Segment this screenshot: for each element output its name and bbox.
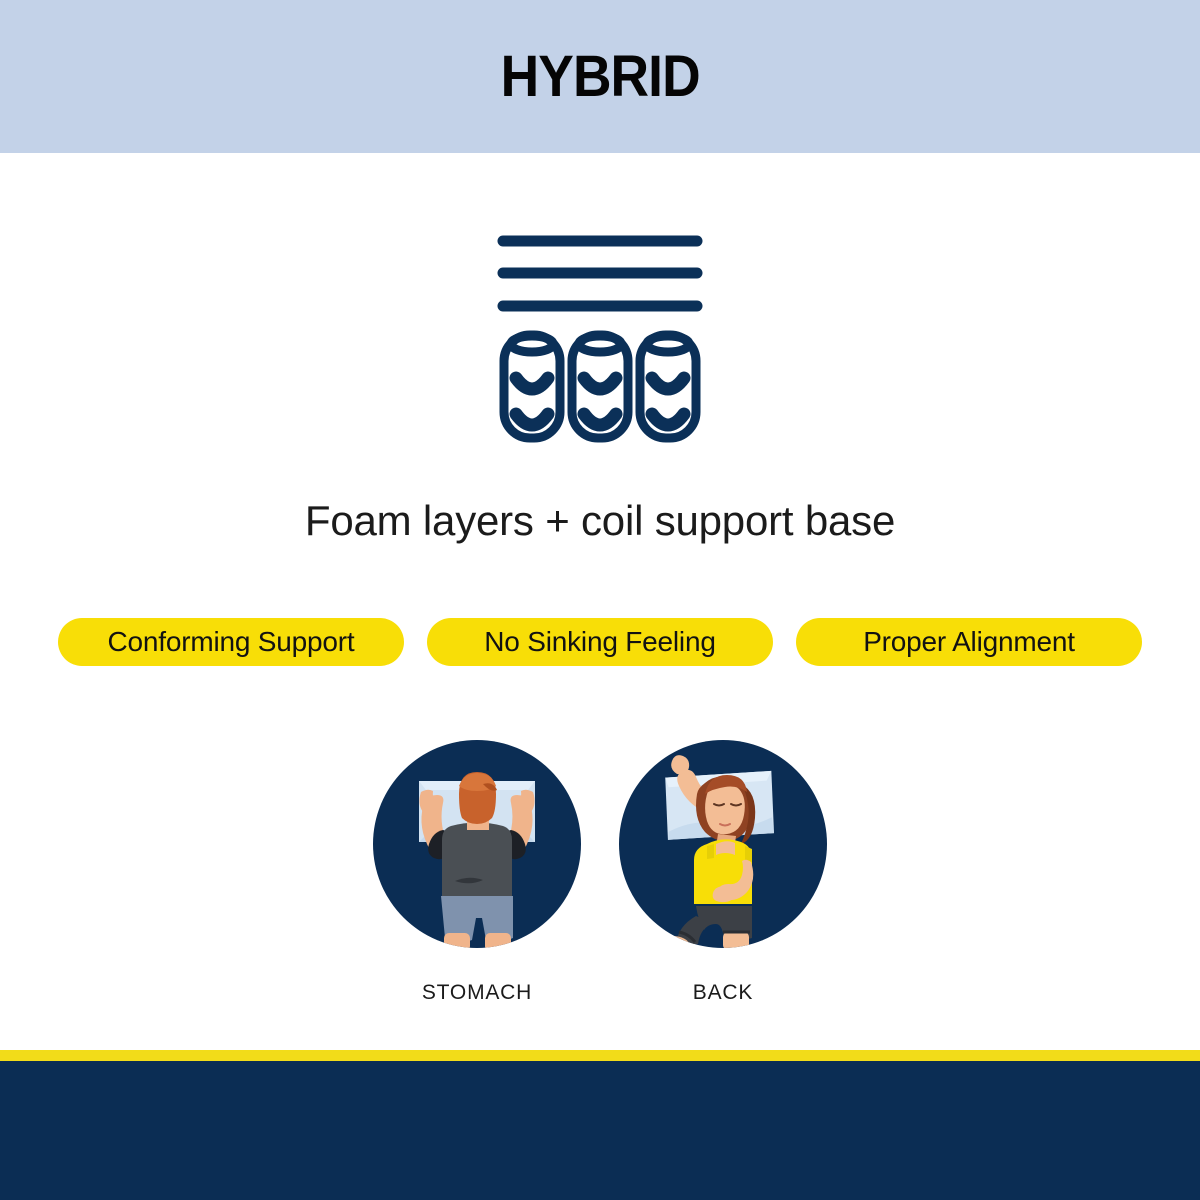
infographic-page: HYBRID — [0, 0, 1200, 1200]
sleep-position-label: STOMACH — [422, 981, 532, 1005]
sleep-position-back: BACK — [619, 740, 827, 1025]
feature-badge-no-sinking-feeling: No Sinking Feeling — [427, 618, 773, 666]
sleep-position-label: BACK — [693, 981, 753, 1005]
feature-badge-label: Conforming Support — [108, 626, 355, 658]
feature-badge-label: No Sinking Feeling — [484, 626, 715, 658]
stomach-sleeper-illustration — [373, 740, 581, 948]
sleep-position-stomach: STOMACH — [373, 740, 581, 1025]
header-band: HYBRID — [0, 0, 1200, 153]
feature-badge-conforming-support: Conforming Support — [58, 618, 404, 666]
footer-bar: Serta ® — [0, 1061, 1200, 1200]
feature-badge-label: Proper Alignment — [863, 626, 1075, 658]
construction-description: Foam layers + coil support base — [0, 497, 1200, 545]
back-sleeper-illustration — [619, 740, 827, 948]
feature-badge-row: Conforming Support No Sinking Feeling Pr… — [58, 618, 1142, 666]
footer-accent-stripe — [0, 1050, 1200, 1061]
feature-badge-proper-alignment: Proper Alignment — [796, 618, 1142, 666]
foam-layers-over-coils-icon — [490, 222, 710, 447]
sleep-position-row: STOMACH — [350, 740, 850, 1025]
page-title: HYBRID — [500, 48, 699, 106]
